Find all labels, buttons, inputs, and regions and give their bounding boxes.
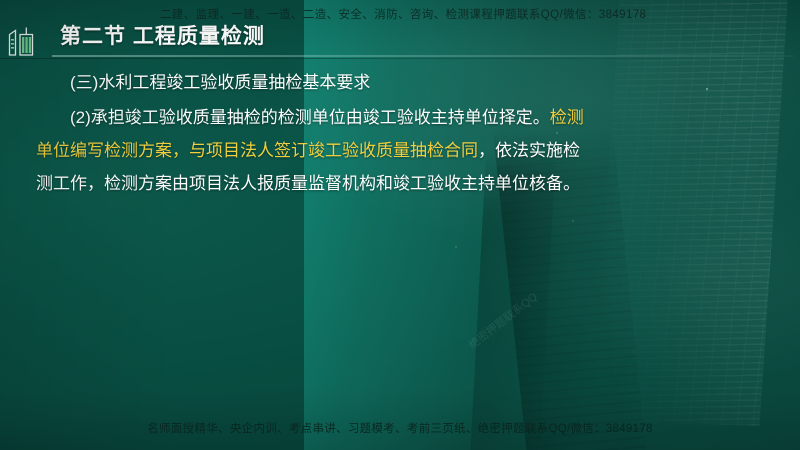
content-heading: (三)水利工程竣工验收质量抽检基本要求 xyxy=(36,66,596,99)
content-paragraph: (2)承担竣工验收质量抽检的检测单位由竣工验收主持单位择定。检测单位编写检测方案… xyxy=(36,101,596,200)
title-underline-rule xyxy=(52,55,794,57)
title-underline-shadow xyxy=(0,58,800,59)
item-number: (2) xyxy=(70,108,91,127)
page-title: 第二节 工程质量检测 xyxy=(60,20,265,50)
building-logo-icon xyxy=(6,22,52,56)
slide-title-row: 第二节 工程质量检测 xyxy=(60,20,265,50)
presentation-slide: 二建、监理、一建、一造、二造、安全、消防、咨询、检测课程押题联系QQ/微信：38… xyxy=(0,0,800,450)
slide-body: (三)水利工程竣工验收质量抽检基本要求 (2)承担竣工验收质量抽检的检测单位由竣… xyxy=(36,66,596,202)
item-text-part-one: 承担竣工验收质量抽检的检测单位由竣工验收主持单位择定。 xyxy=(91,108,550,127)
